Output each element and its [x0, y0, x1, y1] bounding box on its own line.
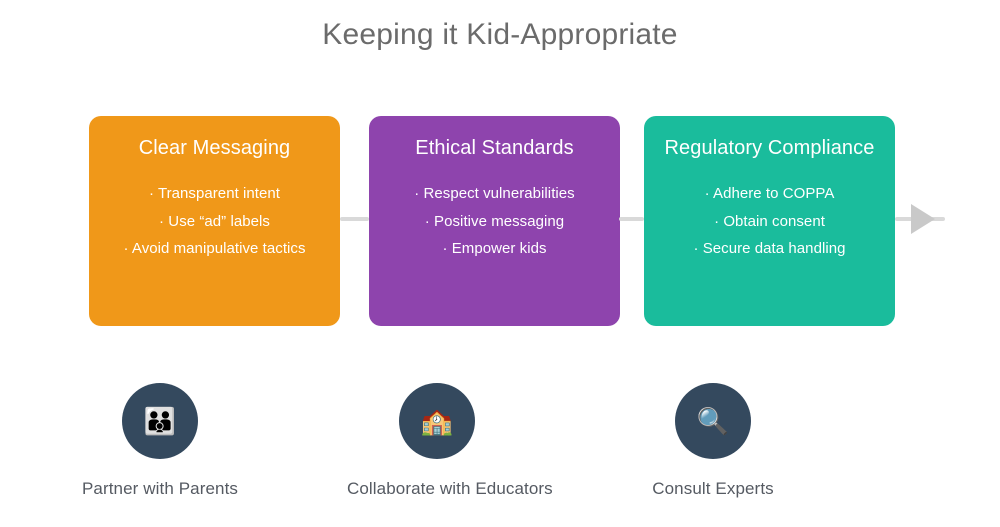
pillar-card-bullet-list: · Adhere to COPPA · Obtain consent · Sec… [644, 180, 895, 263]
stakeholder-node-educators[interactable]: 🏫 Collaborate with Educators [347, 383, 527, 499]
pillar-card-bullet-list: · Transparent intent · Use “ad” labels ·… [89, 180, 340, 263]
stakeholder-node-parents[interactable]: 👪 Partner with Parents [70, 383, 250, 499]
pillar-bullet-item: · Transparent intent [89, 180, 340, 208]
stakeholder-node-experts[interactable]: 🔍 Consult Experts [623, 383, 803, 499]
pillar-card-bullet-list: · Respect vulnerabilities · Positive mes… [369, 180, 620, 263]
infographic-canvas: Keeping it Kid-Appropriate Clear Messagi… [0, 0, 1000, 527]
pillar-bullet-item: · Obtain consent [644, 208, 895, 236]
stakeholder-label: Collaborate with Educators [347, 479, 527, 499]
stakeholder-label: Consult Experts [623, 479, 803, 499]
pillar-bullet-item: · Adhere to COPPA [644, 180, 895, 208]
page-title: Keeping it Kid-Appropriate [0, 18, 1000, 52]
connector-line-2 [619, 217, 644, 221]
pillar-bullet-item: · Secure data handling [644, 235, 895, 263]
stakeholder-icon-circle: 👪 [122, 383, 198, 459]
pillar-card-ethical-standards[interactable]: Ethical Standards · Respect vulnerabilit… [369, 116, 620, 326]
pillar-card-title: Regulatory Compliance [644, 136, 895, 160]
pillar-bullet-item: · Use “ad” labels [89, 208, 340, 236]
school-building-icon: 🏫 [421, 408, 453, 434]
pillar-bullet-item: · Respect vulnerabilities [369, 180, 620, 208]
magnifying-glass-icon: 🔍 [697, 408, 729, 434]
pillar-card-title: Ethical Standards [369, 136, 620, 160]
pillar-card-title: Clear Messaging [89, 136, 340, 160]
stakeholder-icon-circle: 🔍 [675, 383, 751, 459]
pillar-card-clear-messaging[interactable]: Clear Messaging · Transparent intent · U… [89, 116, 340, 326]
pillar-bullet-item: · Positive messaging [369, 208, 620, 236]
stakeholder-label: Partner with Parents [70, 479, 250, 499]
family-icon: 👪 [144, 408, 176, 434]
stakeholder-icon-circle: 🏫 [399, 383, 475, 459]
arrow-right-icon [911, 204, 935, 234]
connector-line-1 [340, 217, 369, 221]
pillar-bullet-item: · Empower kids [369, 235, 620, 263]
pillar-card-regulatory-compliance[interactable]: Regulatory Compliance · Adhere to COPPA … [644, 116, 895, 326]
pillar-bullet-item: · Avoid manipulative tactics [89, 235, 340, 263]
